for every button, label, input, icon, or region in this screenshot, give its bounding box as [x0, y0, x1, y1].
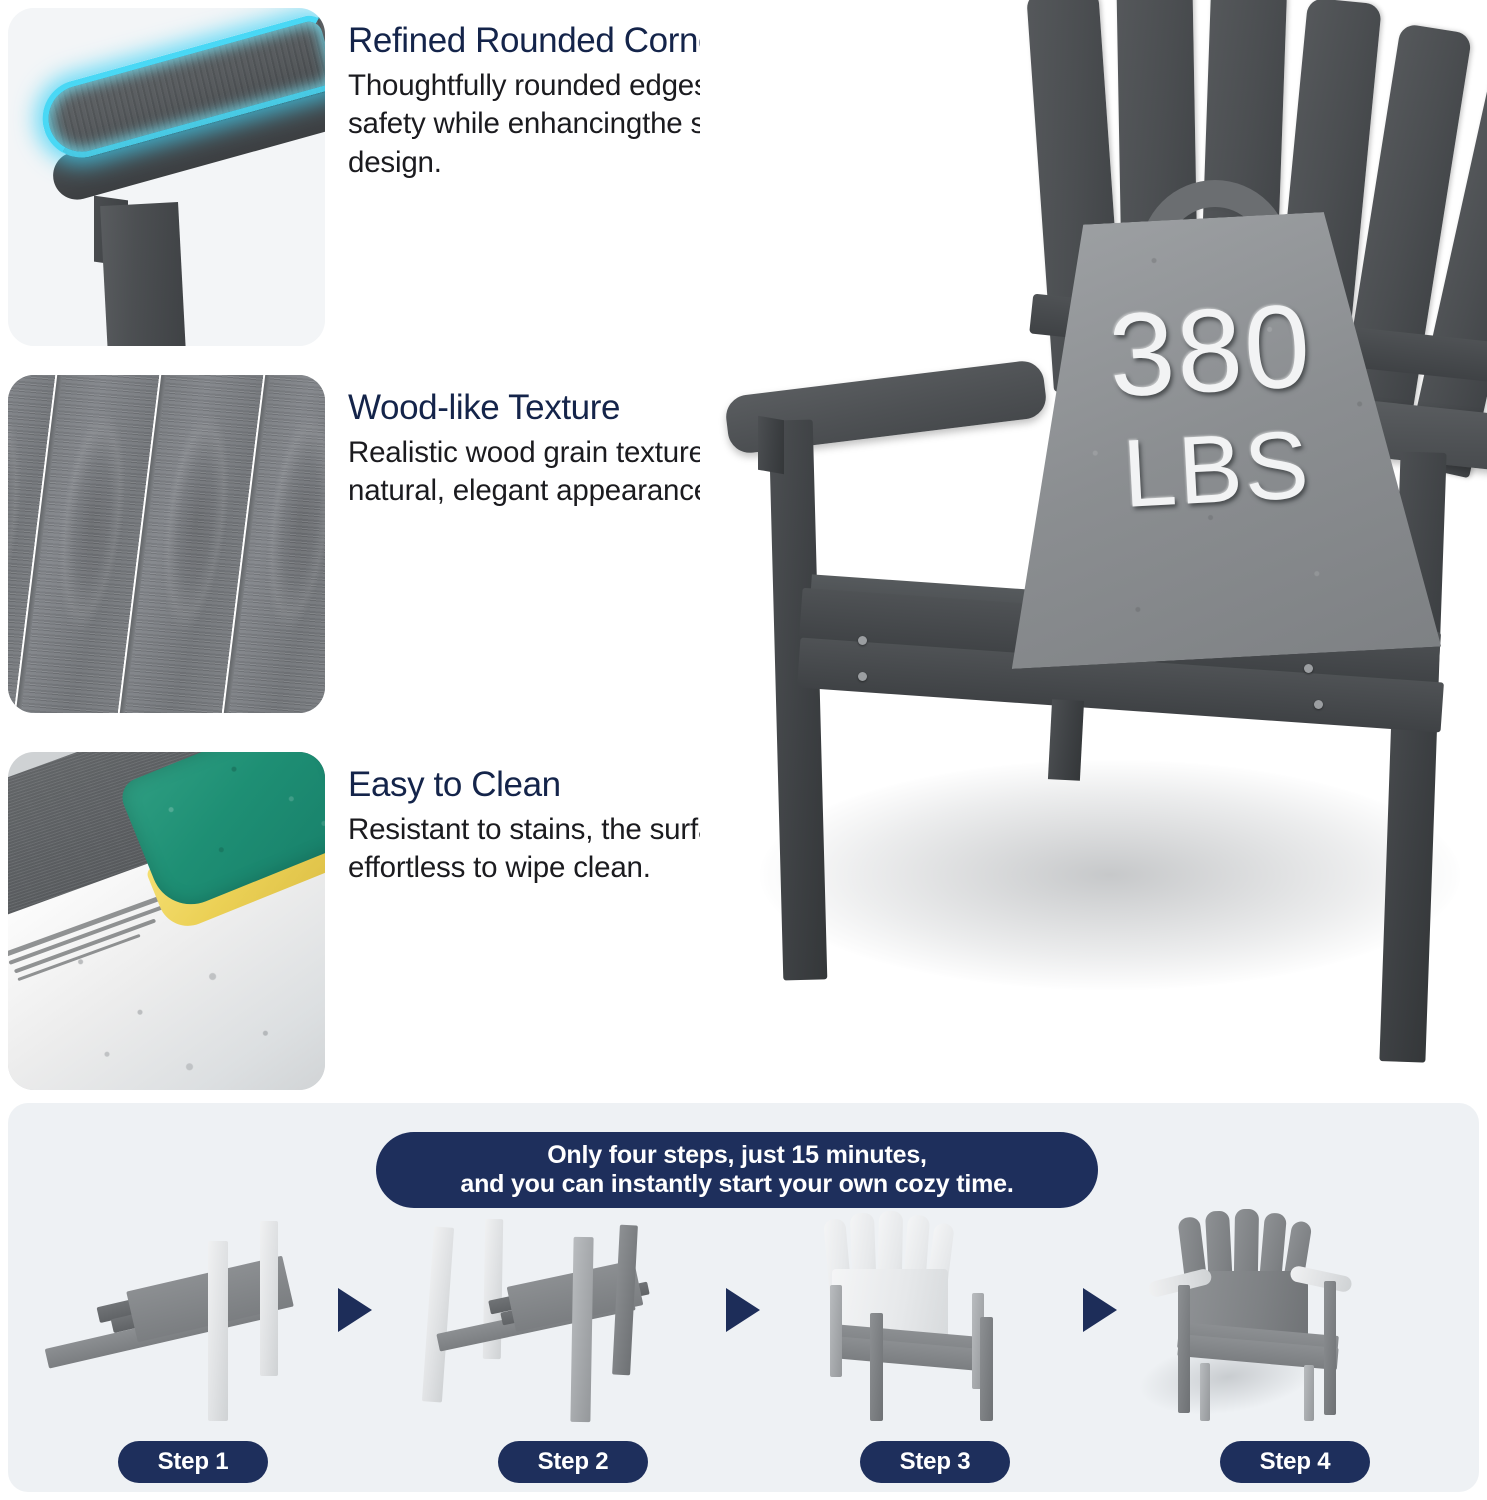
arrow-right-icon: [1083, 1288, 1117, 1332]
step-badge: Step 1: [118, 1441, 268, 1483]
assembly-banner-line-1: Only four steps, just 15 minutes,: [547, 1141, 927, 1170]
weight-unit-text: LBS: [999, 411, 1433, 529]
step-badge: Step 4: [1220, 1441, 1370, 1483]
seat-frame-with-four-legs-art: [400, 1213, 730, 1428]
product-features-section: Refined Rounded Corners Thoughtfully rou…: [0, 0, 1487, 1100]
chair-with-backrest-art: [794, 1213, 1124, 1428]
step-badge: Step 3: [860, 1441, 1010, 1483]
assembly-step-4: Step 4: [1128, 1213, 1458, 1483]
assembly-step-1: Step 1: [30, 1213, 360, 1483]
assembly-step-3: Step 3: [794, 1213, 1124, 1483]
sponge-cleaning-photo: [8, 752, 325, 1090]
assembly-step-2: Step 2: [400, 1213, 730, 1483]
hero-chair-weight-photo: 380 LBS: [700, 0, 1487, 1100]
arrow-right-icon: [726, 1288, 760, 1332]
wood-grain-slats-photo: [8, 375, 325, 713]
rounded-corner-armrest-photo: [8, 8, 325, 346]
assembly-banner-line-2: and you can instantly start your own coz…: [460, 1170, 1013, 1199]
completed-chair-with-armrests-art: [1128, 1213, 1458, 1428]
arrow-right-icon: [338, 1288, 372, 1332]
seat-frame-with-two-legs-art: [30, 1213, 360, 1428]
assembly-banner: Only four steps, just 15 minutes, and yo…: [376, 1132, 1098, 1208]
assembly-steps-panel: Only four steps, just 15 minutes, and yo…: [8, 1103, 1479, 1492]
weight-block-graphic: 380 LBS: [1060, 180, 1370, 680]
step-badge: Step 2: [498, 1441, 648, 1483]
